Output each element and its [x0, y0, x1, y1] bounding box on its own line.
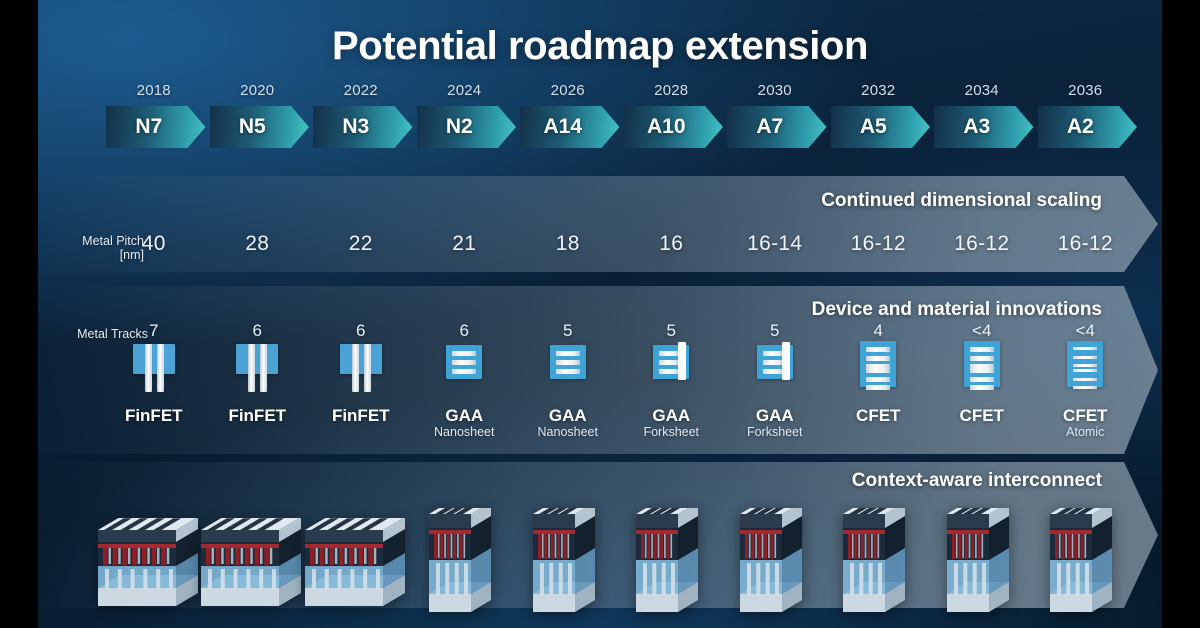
timeline-year-2036: 2036: [1051, 82, 1119, 99]
band-label-device-innovations: Device and material innovations: [812, 299, 1102, 321]
device-name-A7: GAA: [725, 406, 825, 425]
forksheet-icon: [749, 340, 801, 396]
cfet-atomic-icon: [1059, 340, 1111, 396]
device-subtype-A5: [828, 425, 928, 440]
timeline-node-N3[interactable]: N3: [313, 106, 413, 148]
band-label-dimensional-scaling: Continued dimensional scaling: [821, 190, 1102, 212]
interconnect-stack-A2: [1046, 508, 1116, 616]
interconnect-stack-N7: [94, 518, 206, 610]
finfet-icon: [335, 340, 387, 396]
device-icon-wrap: [104, 340, 204, 406]
device-subtype-A14: Nanosheet: [518, 425, 618, 440]
timeline-node-A7[interactable]: A7: [727, 106, 827, 148]
cfet-icon: [852, 340, 904, 396]
timeline-node-A3[interactable]: A3: [934, 106, 1034, 148]
metal-tracks-value-A14: 5: [518, 322, 618, 340]
device-icon-wrap: [207, 340, 307, 406]
device-icon-wrap: [932, 340, 1032, 406]
metal-tracks-value-A5: 4: [828, 322, 928, 340]
device-cell-A7: 5GAAForksheet: [725, 322, 825, 440]
metal-pitch-value-A10: 16: [625, 232, 717, 256]
timeline-node-A5[interactable]: A5: [831, 106, 931, 148]
interconnect-stack-A5: [839, 508, 909, 616]
device-subtype-A7: Forksheet: [725, 425, 825, 440]
metal-pitch-value-A14: 18: [522, 232, 614, 256]
band-label-interconnect: Context-aware interconnect: [852, 470, 1102, 492]
metal-tracks-value-A2: <4: [1035, 322, 1135, 340]
device-name-A2: CFET: [1035, 406, 1135, 425]
device-name-A5: CFET: [828, 406, 928, 425]
device-icon-wrap: [518, 340, 618, 406]
device-icon-wrap: [725, 340, 825, 406]
metal-tracks-value-N7: 7: [104, 322, 204, 340]
device-name-N7: FinFET: [104, 406, 204, 425]
metal-pitch-value-N5: 28: [211, 232, 303, 256]
metal-pitch-value-N3: 22: [315, 232, 407, 256]
device-name-N3: FinFET: [311, 406, 411, 425]
metal-pitch-value-A2: 16-12: [1039, 232, 1131, 256]
timeline-year-2028: 2028: [637, 82, 705, 99]
metal-tracks-value-A7: 5: [725, 322, 825, 340]
device-name-A3: CFET: [932, 406, 1032, 425]
timeline-year-2024: 2024: [430, 82, 498, 99]
interconnect-stack-A14: [529, 508, 599, 616]
device-cell-N5: 6FinFET: [207, 322, 307, 440]
device-subtype-A2: Atomic: [1035, 425, 1135, 440]
roadmap-slide: Potential roadmap extension 201820202022…: [38, 0, 1162, 628]
timeline-year-2020: 2020: [223, 82, 291, 99]
device-name-N5: FinFET: [207, 406, 307, 425]
nanosheet-icon: [438, 340, 490, 396]
timeline-year-row: 2018202020222024202620282030203220342036: [38, 82, 1162, 102]
timeline-year-2022: 2022: [327, 82, 395, 99]
timeline-node-N7[interactable]: N7: [106, 106, 206, 148]
device-icon-wrap: [311, 340, 411, 406]
finfet-icon: [231, 340, 283, 396]
metal-tracks-value-N3: 6: [311, 322, 411, 340]
device-subtype-N2: Nanosheet: [414, 425, 514, 440]
timeline-node-row: N7N5N3N2A14A10A7A5A3A2: [38, 106, 1162, 148]
metal-pitch-value-N7: 40: [108, 232, 200, 256]
interconnect-stack-N3: [301, 518, 413, 610]
device-subtype-A10: Forksheet: [621, 425, 721, 440]
device-subtype-N5: [207, 425, 307, 440]
device-icon-wrap: [414, 340, 514, 406]
device-cell-N2: 6GAANanosheet: [414, 322, 514, 440]
device-cell-N3: 6FinFET: [311, 322, 411, 440]
metal-tracks-value-A10: 5: [621, 322, 721, 340]
metal-pitch-value-A7: 16-14: [729, 232, 821, 256]
device-cell-A5: 4CFET: [828, 322, 928, 440]
timeline-node-A14[interactable]: A14: [520, 106, 620, 148]
cfet-icon: [956, 340, 1008, 396]
device-cell-A3: <4CFET: [932, 322, 1032, 440]
metal-tracks-value-A3: <4: [932, 322, 1032, 340]
nanosheet-icon: [542, 340, 594, 396]
metal-pitch-value-A5: 16-12: [832, 232, 924, 256]
device-icon-wrap: [621, 340, 721, 406]
metal-pitch-value-A3: 16-12: [936, 232, 1028, 256]
device-cell-A10: 5GAAForksheet: [621, 322, 721, 440]
slide-canvas: Potential roadmap extension 201820202022…: [0, 0, 1200, 628]
timeline-node-N5[interactable]: N5: [210, 106, 310, 148]
metal-tracks-value-N2: 6: [414, 322, 514, 340]
device-icon-wrap: [1035, 340, 1135, 406]
timeline-year-2030: 2030: [741, 82, 809, 99]
device-subtype-N3: [311, 425, 411, 440]
device-cell-A14: 5GAANanosheet: [518, 322, 618, 440]
device-subtype-N7: [104, 425, 204, 440]
metal-tracks-value-N5: 6: [207, 322, 307, 340]
timeline-node-N2[interactable]: N2: [417, 106, 517, 148]
device-subtype-A3: [932, 425, 1032, 440]
timeline-year-2018: 2018: [120, 82, 188, 99]
timeline-node-A10[interactable]: A10: [624, 106, 724, 148]
interconnect-stack-A3: [943, 508, 1013, 616]
interconnect-stack-A7: [736, 508, 806, 616]
device-name-A10: GAA: [621, 406, 721, 425]
metal-pitch-value-N2: 21: [418, 232, 510, 256]
forksheet-icon: [645, 340, 697, 396]
interconnect-stack-N5: [197, 518, 309, 610]
timeline-year-2034: 2034: [948, 82, 1016, 99]
timeline-year-2032: 2032: [844, 82, 912, 99]
device-cell-A2: <4CFETAtomic: [1035, 322, 1135, 440]
device-name-A14: GAA: [518, 406, 618, 425]
device-name-N2: GAA: [414, 406, 514, 425]
interconnect-stack-A10: [632, 508, 702, 616]
finfet-icon: [128, 340, 180, 396]
device-cell-N7: 7FinFET: [104, 322, 204, 440]
timeline-year-2026: 2026: [534, 82, 602, 99]
interconnect-stack-N2: [425, 508, 495, 616]
page-title: Potential roadmap extension: [38, 24, 1162, 69]
timeline-node-A2[interactable]: A2: [1038, 106, 1138, 148]
device-icon-wrap: [828, 340, 928, 406]
